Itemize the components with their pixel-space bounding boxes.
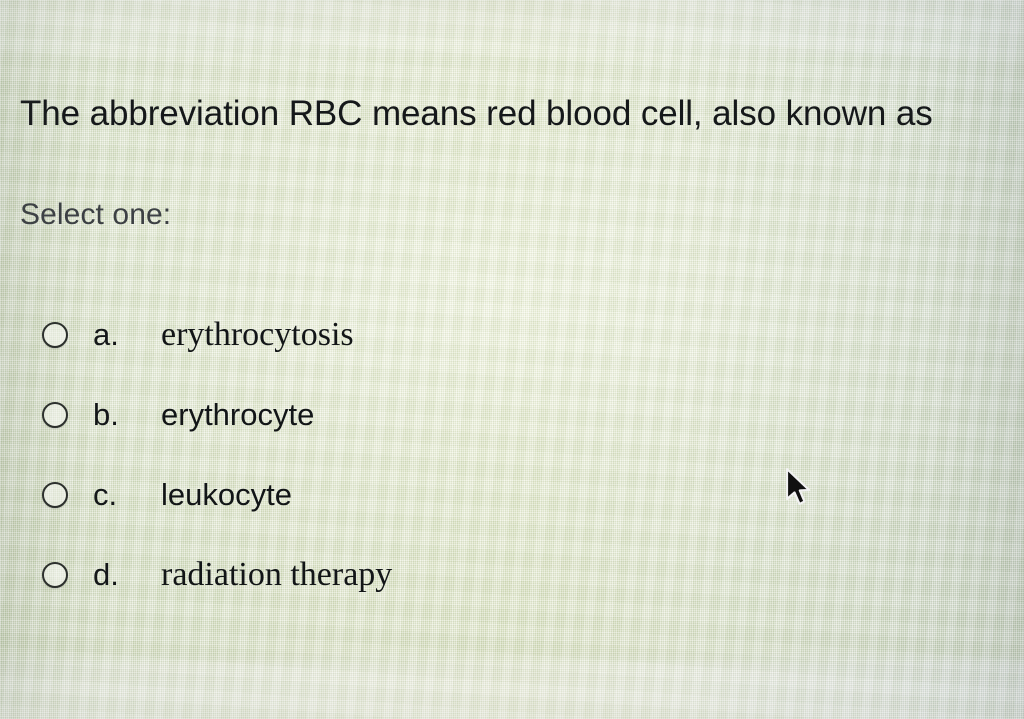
option-label-a[interactable]: erythrocytosis (161, 315, 354, 355)
option-row-c[interactable]: c. leukocyte (0, 470, 1024, 550)
radio-button-b[interactable] (42, 402, 68, 428)
option-label-b[interactable]: erythrocyte (161, 395, 314, 435)
option-row-b[interactable]: b. erythrocyte (0, 390, 1024, 470)
quiz-screenshot: The abbreviation RBC means red blood cel… (0, 0, 1024, 719)
option-letter-c: c. (93, 476, 117, 514)
option-letter-a: a. (93, 316, 119, 354)
radio-button-d[interactable] (42, 562, 68, 588)
quiz-content: The abbreviation RBC means red blood cel… (0, 0, 1024, 719)
option-label-c[interactable]: leukocyte (161, 475, 292, 515)
select-one-instruction: Select one: (20, 196, 171, 234)
radio-button-c[interactable] (42, 482, 68, 508)
option-row-d[interactable]: d. radiation therapy (0, 550, 1024, 630)
option-label-d[interactable]: radiation therapy (161, 555, 392, 595)
option-row-a[interactable]: a. erythrocytosis (0, 310, 1024, 390)
option-letter-b: b. (93, 396, 119, 434)
radio-button-a[interactable] (42, 322, 68, 348)
answer-options-list: a. erythrocytosis b. erythrocyte c. leuk… (0, 310, 1024, 630)
question-text: The abbreviation RBC means red blood cel… (20, 92, 1000, 136)
option-letter-d: d. (93, 556, 119, 594)
